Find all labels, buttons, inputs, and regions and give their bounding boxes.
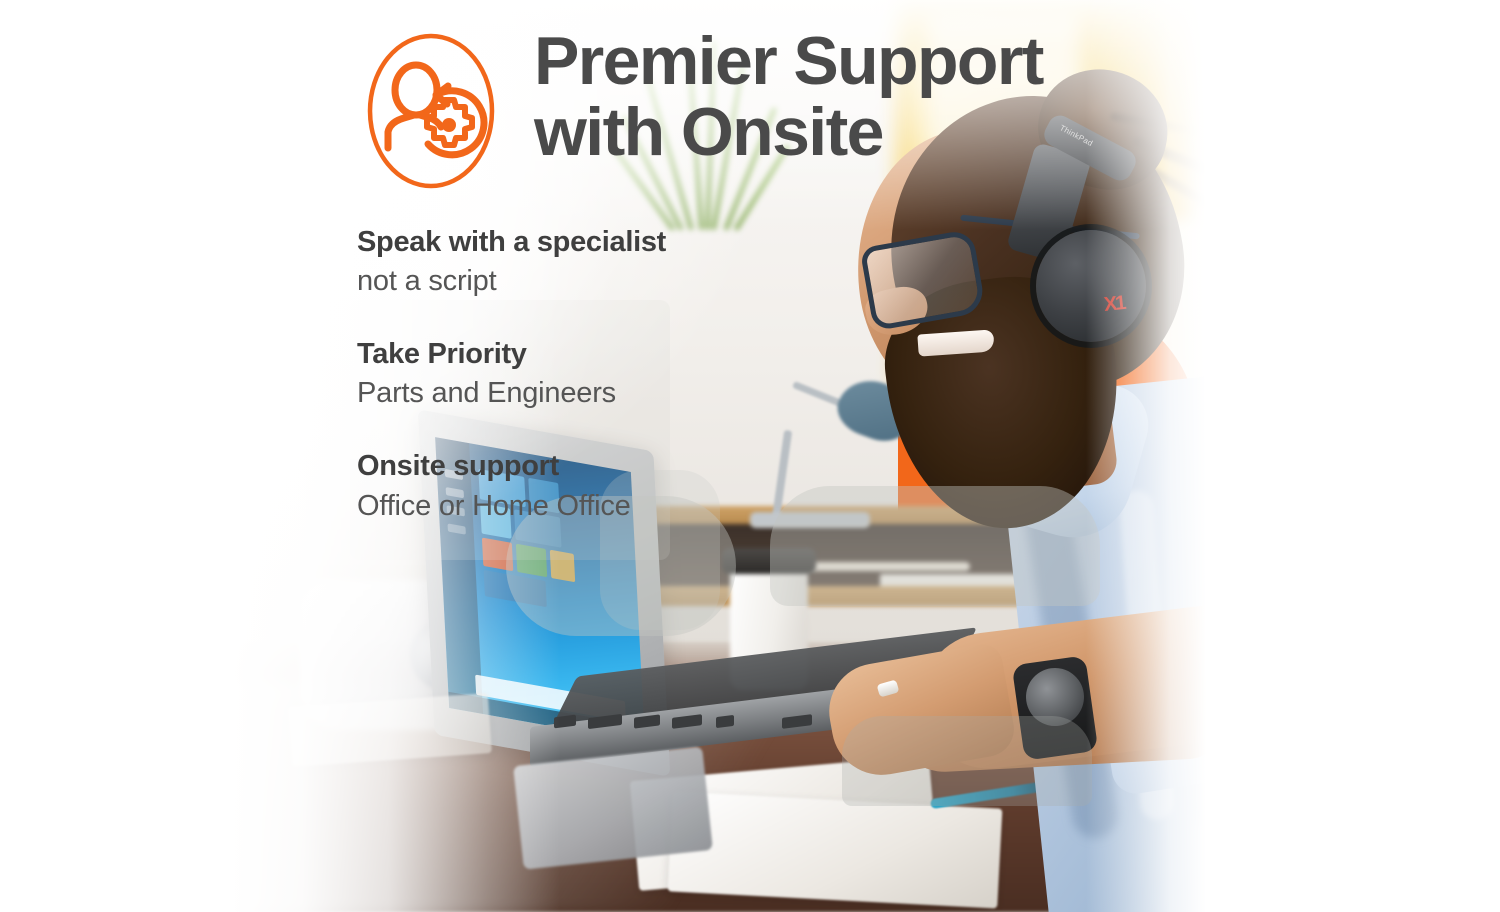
support-agent-gear-icon [366, 32, 496, 190]
headline-line-1: Premier Support [534, 26, 1154, 97]
promo-banner: ThinkPad X1 [0, 0, 1500, 912]
feature-subtitle: Parts and Engineers [357, 375, 957, 413]
headline-line-2: with Onsite [534, 97, 1154, 168]
feature-title: Onsite support [357, 449, 957, 484]
page-title: Premier Support with Onsite [534, 26, 1154, 167]
feature-title: Speak with a specialist [357, 225, 957, 260]
feature-title: Take Priority [357, 337, 957, 372]
feature-subtitle: Office or Home Office [357, 488, 957, 526]
feature-list: Speak with a specialist not a script Tak… [357, 225, 957, 525]
feature-subtitle: not a script [357, 263, 957, 301]
feature-item-speak-with-a-specialist: Speak with a specialist not a script [357, 225, 957, 301]
banner-content: Premier Support with Onsite Speak with a… [0, 0, 1500, 912]
feature-item-take-priority: Take Priority Parts and Engineers [357, 337, 957, 413]
feature-item-onsite-support: Onsite support Office or Home Office [357, 449, 957, 525]
